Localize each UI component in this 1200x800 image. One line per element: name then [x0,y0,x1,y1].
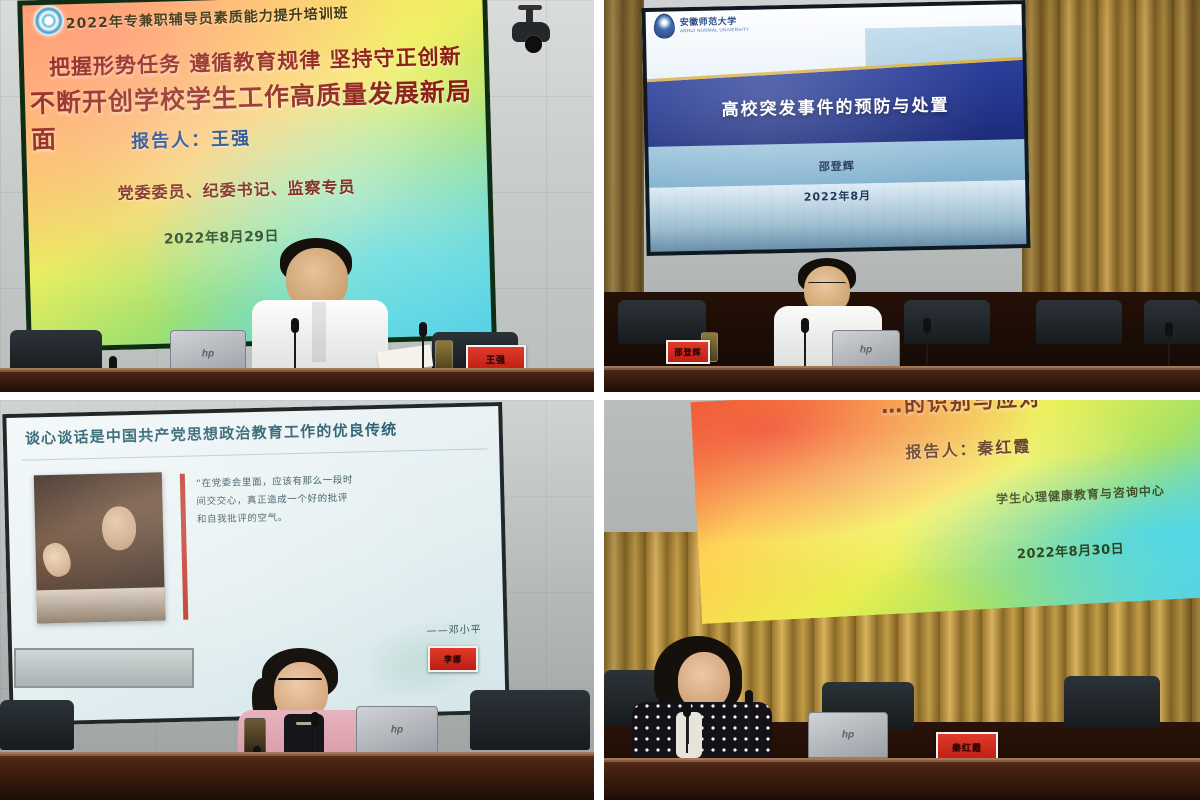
name-placard: 李娜 [428,646,478,672]
panel-bottom-right: …的识别与应对 报告人：秦红霞 学生心理健康教育与咨询中心 2022年8月30日… [604,400,1200,800]
window [14,648,194,688]
chair [470,690,590,750]
podium-desk [604,366,1200,392]
hp-logo-icon: hp [202,349,214,360]
name-placard-text: 王强 [486,353,506,366]
panel-top-left: 2022年专兼职辅导员素质能力提升培训班 把握形势任务 遵循教育规律 坚持守正创… [0,0,594,392]
chair [904,300,990,344]
chair [1036,300,1122,344]
panel-top-right: 高校突发事件的预防与处置 邵登辉 2022年8月 安徽师范大学 ANHUI NO… [604,0,1200,392]
chair [1064,676,1160,728]
microphone-icon [744,690,754,748]
screen-frame [691,400,1200,624]
name-placard-text: 李娜 [444,654,462,665]
photo-collage: 2022年专兼职辅导员素质能力提升培训班 把握形势任务 遵循教育规律 坚持守正创… [0,0,1200,800]
microphone-icon [922,318,932,364]
microphone-icon [418,322,428,374]
name-placard: 邵登辉 [666,340,710,364]
name-placard-text: 秦红霞 [952,741,982,754]
microphone-icon [1164,322,1174,366]
podium-desk [0,752,594,800]
hp-logo-icon: hp [842,730,854,741]
name-placard-text: 邵登辉 [675,347,702,358]
microphone-icon [800,318,810,366]
glasses-icon [278,678,322,686]
projection-screen-2: 高校突发事件的预防与处置 邵登辉 2022年8月 安徽师范大学 ANHUI NO… [641,0,1030,256]
hp-laptop: hp [808,712,888,758]
hp-logo-icon: hp [860,345,872,356]
chair [618,300,706,344]
security-camera-icon [512,8,550,54]
screen-frame [641,0,1030,256]
podium-desk [604,758,1200,800]
microphone-icon [682,702,692,754]
podium-desk [0,368,594,392]
hp-laptop: hp [832,330,900,370]
glasses-icon [808,282,846,289]
hp-laptop: hp [356,706,438,754]
chair [0,700,74,750]
hp-logo-icon: hp [391,725,403,736]
panel-bottom-left: 谈心谈话是中国共产党思想政治教育工作的优良传统 “在党委会里面，应该有那么一段时… [0,400,594,800]
speaker-person [246,238,396,368]
projection-screen-4: …的识别与应对 报告人：秦红霞 学生心理健康教育与咨询中心 2022年8月30日 [691,400,1200,624]
